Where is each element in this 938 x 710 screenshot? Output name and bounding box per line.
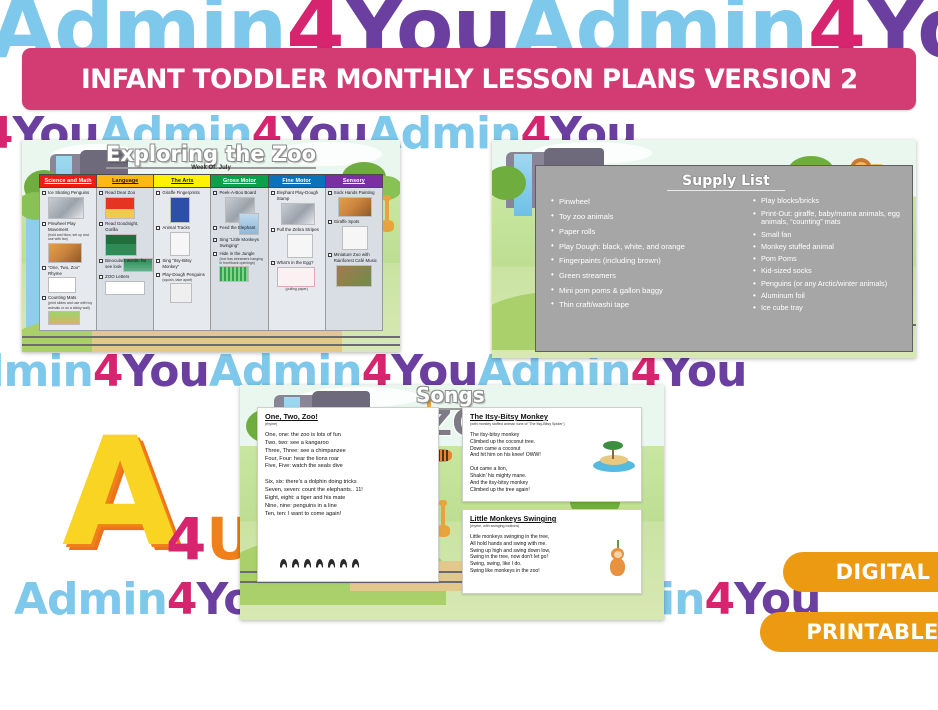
watermark-four: 4 bbox=[0, 108, 12, 159]
watermark-four: 4 bbox=[93, 346, 123, 397]
page-title: INFANT TODDLER MONTHLY LESSON PLANS VERS… bbox=[81, 64, 858, 95]
checkbox-icon[interactable] bbox=[328, 220, 332, 224]
activity-item[interactable]: Play-Dough Penguins(squish, take apart) bbox=[156, 272, 208, 303]
activity-cell-gross-motor[interactable]: Peek-A-Boo Board Feed the Elephant Sing … bbox=[211, 188, 268, 331]
activity-cell-language[interactable]: Read Dear Zoo Read Goodnight, Gorilla Bi… bbox=[97, 188, 154, 331]
checkbox-icon[interactable] bbox=[328, 253, 332, 257]
penguin-illustration-row bbox=[280, 559, 359, 573]
activity-cell-sensory[interactable]: Sock Hands Painting Giraffe Spots Miniat… bbox=[325, 188, 382, 331]
table-row: Ice Skating Penguins Pinwheel Play Movem… bbox=[40, 188, 383, 331]
activity-label: “One, Two, Zoo” Rhyme bbox=[48, 265, 94, 277]
activity-item[interactable]: Pinwheel Play Movement(hold and blow, se… bbox=[42, 221, 94, 263]
list-item: Print-Out: giraffe, baby/mama animals, e… bbox=[752, 210, 902, 228]
checkbox-icon[interactable] bbox=[99, 259, 103, 263]
penguin-icon bbox=[316, 559, 323, 573]
activity-label: Animal Tracks bbox=[162, 225, 190, 231]
activity-item[interactable]: Ice Skating Penguins bbox=[42, 190, 94, 219]
title-underline bbox=[667, 190, 785, 191]
activity-cell-the-arts[interactable]: Giraffe Fingerprints Animal Tracks Sing … bbox=[154, 188, 211, 331]
activity-item[interactable]: Read Goodnight, Gorilla bbox=[99, 221, 151, 256]
song-lyrics: One, one: the zoo is lots of fun Two, tw… bbox=[265, 432, 431, 519]
list-item: Play Dough: black, white, and orange bbox=[550, 242, 746, 252]
list-item: Mini pom poms & gallon baggy bbox=[550, 286, 746, 296]
activity-thumbnail bbox=[219, 266, 249, 282]
watermark-admin: Admin bbox=[14, 574, 167, 625]
checkbox-icon[interactable] bbox=[271, 191, 275, 195]
list-item: Small fan bbox=[752, 231, 902, 240]
activity-item[interactable]: Giraffe Spots bbox=[328, 219, 380, 250]
list-item: Ice cube tray bbox=[752, 304, 902, 313]
activity-cell-science-and-math[interactable]: Ice Skating Penguins Pinwheel Play Movem… bbox=[40, 188, 97, 331]
activity-label: Sing “Little Monkeys Swinging” bbox=[219, 237, 265, 249]
activity-thumbnail bbox=[48, 243, 82, 263]
checkbox-icon[interactable] bbox=[156, 226, 160, 230]
list-item: Play blocks/bricks bbox=[752, 197, 902, 206]
column-header-science-and-math[interactable]: Science and Math bbox=[40, 175, 97, 188]
checkbox-icon[interactable] bbox=[271, 261, 275, 265]
checkbox-icon[interactable] bbox=[213, 252, 217, 256]
song-subtitle: (rhyme) bbox=[265, 422, 431, 426]
column-header-gross-motor[interactable]: Gross Motor bbox=[211, 175, 268, 188]
checkbox-icon[interactable] bbox=[99, 222, 103, 226]
watermark-admin: Admin bbox=[0, 346, 93, 397]
songs-slide[interactable]: ZOO Songs One, Two, Zoo! (rhyme) One, on… bbox=[240, 385, 664, 620]
checkbox-icon[interactable] bbox=[42, 222, 46, 226]
watermark-four: 4 bbox=[704, 574, 734, 625]
activity-thumbnail bbox=[105, 197, 135, 219]
activity-label: Sock Hands Painting bbox=[334, 190, 375, 196]
penguin-icon bbox=[340, 559, 347, 573]
digital-badge-label: DIGITAL bbox=[836, 560, 931, 584]
activity-label: Giraffe Fingerprints bbox=[162, 190, 200, 196]
checkbox-icon[interactable] bbox=[328, 191, 332, 195]
list-item: Green streamers bbox=[550, 271, 746, 281]
penguin-icon bbox=[292, 559, 299, 573]
lesson-plan-slide[interactable]: Exploring the Zoo Week Of: July Science … bbox=[22, 140, 400, 352]
activity-thumbnail bbox=[239, 213, 259, 235]
activity-thumbnail bbox=[48, 277, 76, 293]
penguin-icon bbox=[328, 559, 335, 573]
slide-canvas: Admin4YouAdmin4You Admin4YouAdmin4YouAdm… bbox=[0, 0, 938, 710]
a4u-logo: A 4U bbox=[62, 432, 178, 555]
checkbox-icon[interactable] bbox=[156, 259, 160, 263]
supply-list-slide[interactable]: Supply List Pinwheel Toy zoo animals Pap… bbox=[492, 140, 916, 358]
activity-label: Counting Mats(print slides and use with … bbox=[48, 295, 94, 310]
activity-thumbnail bbox=[342, 226, 368, 250]
activity-thumbnail bbox=[287, 234, 313, 258]
list-item: Penguins (or any Arctic/winter animals) bbox=[752, 280, 902, 289]
supply-list-columns: Pinwheel Toy zoo animals Paper rolls Pla… bbox=[550, 193, 902, 316]
lesson-plan-table[interactable]: Science and Math Language The Arts Gross… bbox=[39, 174, 383, 331]
activity-item[interactable]: “One, Two, Zoo” Rhyme bbox=[42, 265, 94, 294]
activity-note: (print slides and use with toy animals o… bbox=[48, 301, 94, 310]
activity-item[interactable]: Sing “Itsy-Bitsy Monkey” bbox=[156, 258, 208, 270]
activity-item[interactable]: Sock Hands Painting bbox=[328, 190, 380, 217]
activity-thumbnail bbox=[170, 283, 192, 303]
checkbox-icon[interactable] bbox=[99, 191, 103, 195]
checkbox-icon[interactable] bbox=[42, 266, 46, 270]
table-header-row: Science and Math Language The Arts Gross… bbox=[40, 175, 383, 188]
checkbox-icon[interactable] bbox=[99, 275, 103, 279]
song-card-itsy-bitsy-monkey[interactable]: The Itsy-Bitsy Monkey (with monkey stuff… bbox=[462, 407, 642, 502]
activity-item[interactable]: Miniature Zoo with Rainforest Café Music bbox=[328, 252, 380, 287]
column-header-fine-motor[interactable]: Fine Motor bbox=[268, 175, 325, 188]
activity-label: Ice Skating Penguins bbox=[48, 190, 89, 196]
activity-label: Miniature Zoo with Rainforest Café Music bbox=[334, 252, 380, 264]
week-of-label: Week Of: July bbox=[191, 165, 231, 171]
list-item: Monkey stuffed animal bbox=[752, 243, 902, 252]
activity-item[interactable]: Pull the Zebra Stripes bbox=[271, 227, 323, 258]
activity-label: Pull the Zebra Stripes bbox=[277, 227, 319, 233]
activity-note: (pulling paper) bbox=[271, 287, 323, 291]
activity-label: What’s in the Egg? bbox=[277, 260, 314, 266]
activity-label: Read Goodnight, Gorilla bbox=[105, 221, 151, 233]
activity-item[interactable]: Read Dear Zoo bbox=[99, 190, 151, 219]
activity-item[interactable]: Counting Mats(print slides and use with … bbox=[42, 295, 94, 325]
penguin-icon bbox=[304, 559, 311, 573]
list-item: Kid-sized socks bbox=[752, 267, 902, 276]
activity-thumbnail bbox=[281, 203, 315, 225]
checkbox-icon[interactable] bbox=[213, 226, 217, 230]
island-illustration bbox=[593, 438, 635, 472]
activity-thumbnail bbox=[338, 197, 372, 217]
activity-thumbnail bbox=[336, 265, 372, 287]
activity-item[interactable]: Animal Tracks bbox=[156, 225, 208, 256]
watermark-four: 4 bbox=[167, 574, 197, 625]
activity-item[interactable]: Binoculars words: far see look bbox=[99, 258, 151, 272]
column-header-language[interactable]: Language bbox=[97, 175, 154, 188]
activity-item[interactable]: Giraffe Fingerprints bbox=[156, 190, 208, 223]
digital-badge: DIGITAL bbox=[783, 552, 938, 592]
song-subtitle: (with monkey stuffed animal; tune of ‘Th… bbox=[470, 422, 634, 426]
activity-label: Hide in the Jungle(box has streamers han… bbox=[219, 251, 265, 266]
activity-item[interactable]: ZOO Letters bbox=[99, 274, 151, 295]
activity-label: Sing “Itsy-Bitsy Monkey” bbox=[162, 258, 208, 270]
printable-badge: PRINTABLE bbox=[760, 612, 938, 652]
activity-label: Elephant Play-Dough Stamp bbox=[277, 190, 323, 202]
watermark-you: You bbox=[122, 346, 208, 397]
logo-letter-a: A bbox=[62, 432, 178, 555]
song-card-little-monkeys-swinging[interactable]: Little Monkeys Swinging (rhyme, with swi… bbox=[462, 509, 642, 594]
supply-list-title: Supply List bbox=[550, 173, 902, 191]
song-heading: Little Monkeys Swinging bbox=[470, 515, 634, 524]
activity-label: Giraffe Spots bbox=[334, 219, 360, 225]
activity-label: Read Dear Zoo bbox=[105, 190, 135, 196]
list-item: Paper rolls bbox=[550, 227, 746, 237]
list-item: Thin craft/washi tape bbox=[550, 300, 746, 310]
activity-thumbnail bbox=[48, 311, 80, 325]
supply-list-left-column: Pinwheel Toy zoo animals Paper rolls Pla… bbox=[550, 197, 746, 316]
logo-four: 4 bbox=[166, 505, 206, 573]
activity-label: Pinwheel Play Movement(hold and blow, se… bbox=[48, 221, 94, 242]
song-heading: One, Two, Zoo! bbox=[265, 413, 431, 422]
column-header-the-arts[interactable]: The Arts bbox=[154, 175, 211, 188]
activity-note: (squish, take apart) bbox=[162, 278, 204, 282]
activity-cell-fine-motor[interactable]: Elephant Play-Dough Stamp Pull the Zebra… bbox=[268, 188, 325, 331]
checkbox-icon[interactable] bbox=[42, 191, 46, 195]
monkey-illustration bbox=[605, 545, 631, 585]
list-item: Pom Poms bbox=[752, 255, 902, 264]
checkbox-icon[interactable] bbox=[156, 273, 160, 277]
activity-thumbnail bbox=[105, 281, 145, 295]
song-card-one-two-zoo[interactable]: One, Two, Zoo! (rhyme) One, one: the zoo… bbox=[257, 407, 439, 582]
penguin-icon bbox=[280, 559, 287, 573]
activity-item[interactable]: Hide in the Jungle(box has streamers han… bbox=[213, 251, 265, 283]
activity-label: ZOO Letters bbox=[105, 274, 129, 280]
supply-list-right-column: Play blocks/bricks Print-Out: giraffe, b… bbox=[752, 197, 902, 316]
list-item: Pinwheel bbox=[550, 197, 746, 207]
checkbox-icon[interactable] bbox=[42, 296, 46, 300]
activity-thumbnail bbox=[170, 232, 190, 256]
activity-note: (hold and blow, set up and use with fan) bbox=[48, 233, 94, 242]
activity-thumbnail bbox=[277, 267, 315, 287]
activity-item[interactable]: What’s in the Egg? (pulling paper) bbox=[271, 260, 323, 291]
activity-thumbnail bbox=[170, 197, 190, 223]
activity-label: Binoculars words: far see look bbox=[105, 258, 151, 270]
activity-item[interactable]: Sing “Little Monkeys Swinging” bbox=[213, 237, 265, 249]
page-title-banner: INFANT TODDLER MONTHLY LESSON PLANS VERS… bbox=[22, 48, 916, 110]
activity-note: (box has streamers hanging in front/back… bbox=[219, 257, 265, 266]
activity-label: Play-Dough Penguins(squish, take apart) bbox=[162, 272, 204, 282]
printable-badge-label: PRINTABLE bbox=[806, 620, 938, 644]
checkbox-icon[interactable] bbox=[213, 238, 217, 242]
penguin-icon bbox=[352, 559, 359, 573]
activity-thumbnail bbox=[105, 234, 137, 256]
activity-item[interactable]: Elephant Play-Dough Stamp bbox=[271, 190, 323, 225]
column-header-sensory[interactable]: Sensory bbox=[325, 175, 382, 188]
song-heading: The Itsy-Bitsy Monkey bbox=[470, 413, 634, 422]
activity-item[interactable]: Feed the Elephant bbox=[213, 225, 265, 235]
list-item: Aluminum foil bbox=[752, 292, 902, 301]
supply-list-panel[interactable]: Supply List Pinwheel Toy zoo animals Pap… bbox=[535, 165, 913, 352]
list-item: Fingerpaints (including brown) bbox=[550, 256, 746, 266]
activity-label: Feed the Elephant bbox=[219, 225, 255, 231]
activity-thumbnail bbox=[48, 197, 84, 219]
checkbox-icon[interactable] bbox=[213, 191, 217, 195]
song-subtitle: (rhyme, with swinging motions) bbox=[470, 524, 634, 528]
checkbox-icon[interactable] bbox=[156, 191, 160, 195]
activity-label: Peek-A-Boo Board bbox=[219, 190, 256, 196]
list-item: Toy zoo animals bbox=[550, 212, 746, 222]
checkbox-icon[interactable] bbox=[271, 228, 275, 232]
